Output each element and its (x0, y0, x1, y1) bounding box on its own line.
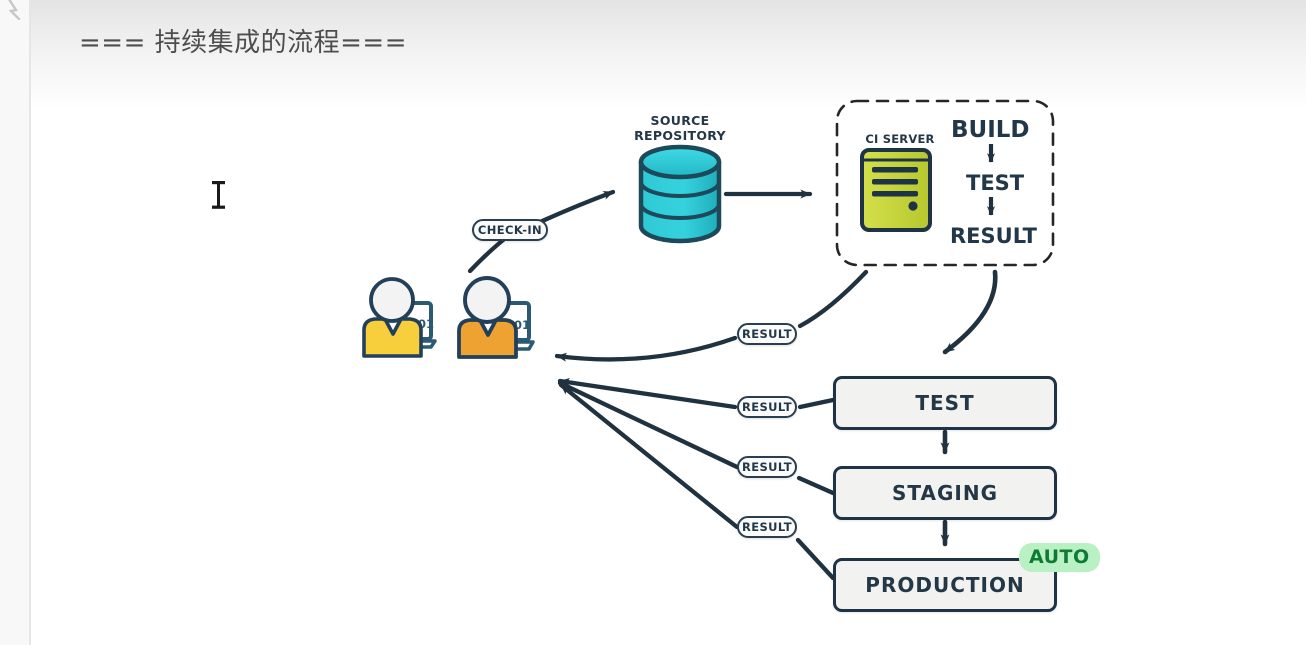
developer-front-icon: 10101 (459, 278, 533, 357)
developer-back-icon: 10101 (364, 279, 435, 356)
result-label-test: RESULT (737, 396, 797, 418)
source-repository-label: SOURCE REPOSITORY (625, 113, 735, 143)
pipeline-stage-test[interactable]: TEST (833, 376, 1057, 430)
ci-flow-diagram: 10101 10101 (0, 0, 1306, 645)
source-repository-label-line1: SOURCE (651, 113, 710, 128)
source-repository-label-line2: REPOSITORY (634, 128, 726, 143)
ci-step-build: BUILD (951, 117, 1030, 143)
text-caret-icon (211, 180, 226, 210)
ci-step-test: TEST (966, 171, 1024, 195)
result-feedback-ci (557, 272, 866, 359)
auto-badge: AUTO (1019, 543, 1100, 572)
result-label-production: RESULT (737, 516, 797, 538)
screenshot-root: === 持续集成的流程=== (0, 0, 1306, 645)
result-label-ci: RESULT (737, 323, 797, 345)
ci-to-test-arrow (945, 272, 995, 352)
ci-server-icon (862, 150, 930, 230)
source-repository-icon (641, 147, 719, 241)
ci-step-result: RESULT (950, 224, 1037, 248)
ci-server-label: CI SERVER (855, 132, 945, 146)
result-label-staging: RESULT (737, 456, 797, 478)
pipeline-stage-staging[interactable]: STAGING (833, 466, 1057, 520)
check-in-label: CHECK-IN (472, 219, 548, 241)
